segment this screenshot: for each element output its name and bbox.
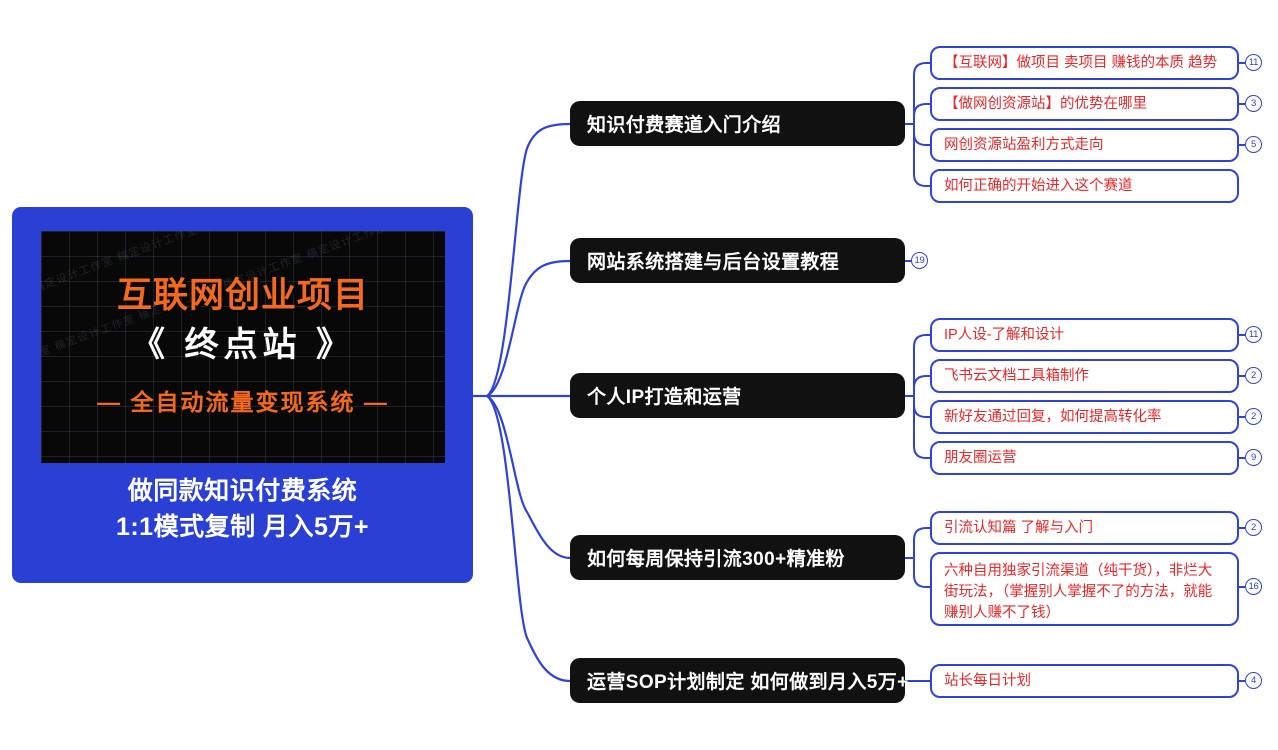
- leaf-badge-3-4: 9: [1245, 449, 1262, 466]
- leaf-node-4-2[interactable]: 六种自用独家引流渠道（纯干货），非烂大街玩法，（掌握别人掌握不了的方法，就能赚别…: [930, 552, 1239, 626]
- poster-title-line1: 互联网创业项目: [117, 277, 369, 316]
- leaf-label: 飞书云文档工具箱制作: [944, 366, 1089, 387]
- branch-label: 运营SOP计划制定 如何做到月入5万+: [587, 667, 909, 694]
- leaf-badge-1-3: 5: [1245, 136, 1262, 153]
- leaf-node-1-1[interactable]: 【互联网】做项目 卖项目 赚钱的本质 趋势: [930, 46, 1239, 80]
- root-poster-image: 稿定设计工作室 稿定设计工作室 稿定设计工作室 稿定设计工作室 稿定设计工作室 …: [41, 231, 445, 463]
- leaf-node-3-3[interactable]: 新好友通过回复，如何提高转化率: [930, 400, 1239, 434]
- leaf-label: 站长每日计划: [944, 671, 1031, 692]
- leaf-label: 朋友圈运营: [944, 448, 1017, 469]
- branch-badge-2: 19: [911, 252, 928, 269]
- leaf-label: 如何正确的开始进入这个赛道: [944, 176, 1133, 197]
- leaf-badge-5-1: 4: [1245, 672, 1262, 689]
- leaf-label: 【互联网】做项目 卖项目 赚钱的本质 趋势: [944, 53, 1217, 74]
- branch-label: 知识付费赛道入门介绍: [587, 110, 781, 137]
- leaf-label: 【做网创资源站】的优势在哪里: [944, 94, 1147, 115]
- leaf-badge-3-2: 2: [1245, 367, 1262, 384]
- poster-title-line3: — 全自动流量变现系统 —: [97, 383, 389, 417]
- branch-node-2[interactable]: 网站系统搭建与后台设置教程: [570, 238, 905, 283]
- leaf-label: 六种自用独家引流渠道（纯干货），非烂大街玩法，（掌握别人掌握不了的方法，就能赚别…: [944, 561, 1225, 624]
- leaf-badge-1-2: 3: [1245, 95, 1262, 112]
- leaf-label: 新好友通过回复，如何提高转化率: [944, 407, 1162, 428]
- branch-label: 如何每周保持引流300+精准粉: [587, 544, 845, 571]
- root-caption-line2: 1:1模式复制 月入5万+: [12, 509, 473, 545]
- leaf-label: IP人设-了解和设计: [944, 325, 1064, 346]
- leaf-node-3-1[interactable]: IP人设-了解和设计: [930, 318, 1239, 352]
- branch-label: 个人IP打造和运营: [587, 382, 742, 409]
- leaf-node-1-4[interactable]: 如何正确的开始进入这个赛道: [930, 169, 1239, 203]
- leaf-label: 引流认知篇 了解与入门: [944, 518, 1093, 539]
- branch-node-5[interactable]: 运营SOP计划制定 如何做到月入5万+: [570, 658, 905, 703]
- branch-node-1[interactable]: 知识付费赛道入门介绍: [570, 101, 905, 146]
- leaf-node-4-1[interactable]: 引流认知篇 了解与入门: [930, 511, 1239, 545]
- poster-title-line2: 《 终点站 》: [131, 323, 355, 369]
- leaf-badge-4-1: 2: [1245, 519, 1262, 536]
- root-caption-line1: 做同款知识付费系统: [12, 473, 473, 509]
- root-caption: 做同款知识付费系统 1:1模式复制 月入5万+: [12, 473, 473, 546]
- leaf-label: 网创资源站盈利方式走向: [944, 135, 1104, 156]
- branch-node-3[interactable]: 个人IP打造和运营: [570, 373, 905, 418]
- leaf-badge-1-1: 11: [1245, 54, 1262, 71]
- leaf-node-3-2[interactable]: 飞书云文档工具箱制作: [930, 359, 1239, 393]
- leaf-badge-4-2: 16: [1245, 578, 1262, 595]
- leaf-badge-3-1: 11: [1245, 326, 1262, 343]
- root-node[interactable]: 稿定设计工作室 稿定设计工作室 稿定设计工作室 稿定设计工作室 稿定设计工作室 …: [12, 207, 473, 583]
- leaf-node-3-4[interactable]: 朋友圈运营: [930, 441, 1239, 475]
- mindmap-canvas: 稿定设计工作室 稿定设计工作室 稿定设计工作室 稿定设计工作室 稿定设计工作室 …: [0, 0, 1278, 750]
- leaf-node-1-3[interactable]: 网创资源站盈利方式走向: [930, 128, 1239, 162]
- branch-label: 网站系统搭建与后台设置教程: [587, 247, 839, 274]
- leaf-node-1-2[interactable]: 【做网创资源站】的优势在哪里: [930, 87, 1239, 121]
- leaf-node-5-1[interactable]: 站长每日计划: [930, 664, 1239, 698]
- branch-node-4[interactable]: 如何每周保持引流300+精准粉: [570, 535, 905, 580]
- leaf-badge-3-3: 2: [1245, 408, 1262, 425]
